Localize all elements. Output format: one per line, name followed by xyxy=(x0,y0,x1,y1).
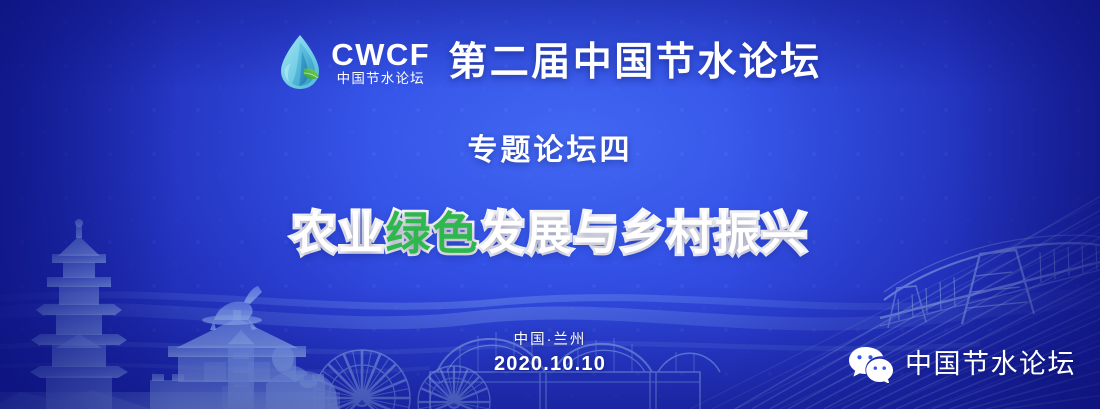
session-label: 专题论坛四 xyxy=(0,136,1100,166)
conference-banner: CWCF 中国节水论坛 第二届中国节水论坛 专题论坛四 农业绿色发展与乡村振兴 … xyxy=(0,0,1100,409)
topic-part-1: 农业 xyxy=(291,208,385,259)
wechat-icon xyxy=(848,345,894,383)
water-drop-leaf-logo-icon xyxy=(278,33,322,91)
topic-part-3: 发展与乡村振兴 xyxy=(480,208,809,259)
logo-wordmark: CWCF 中国节水论坛 xyxy=(331,39,430,86)
topic-title: 农业绿色发展与乡村振兴 xyxy=(0,207,1100,260)
wechat-account-name: 中国节水论坛 xyxy=(905,351,1076,378)
logo-chinese-name: 中国节水论坛 xyxy=(337,72,425,86)
cwcf-logo: CWCF 中国节水论坛 xyxy=(278,33,430,91)
topic-part-green: 绿色 xyxy=(385,208,479,259)
banner-content: CWCF 中国节水论坛 第二届中国节水论坛 专题论坛四 农业绿色发展与乡村振兴 … xyxy=(0,0,1100,409)
forum-title: 第二届中国节水论坛 xyxy=(448,43,822,82)
wechat-account: 中国节水论坛 xyxy=(848,345,1076,383)
logo-acronym: CWCF xyxy=(331,39,430,70)
header-row: CWCF 中国节水论坛 第二届中国节水论坛 xyxy=(0,33,1100,91)
